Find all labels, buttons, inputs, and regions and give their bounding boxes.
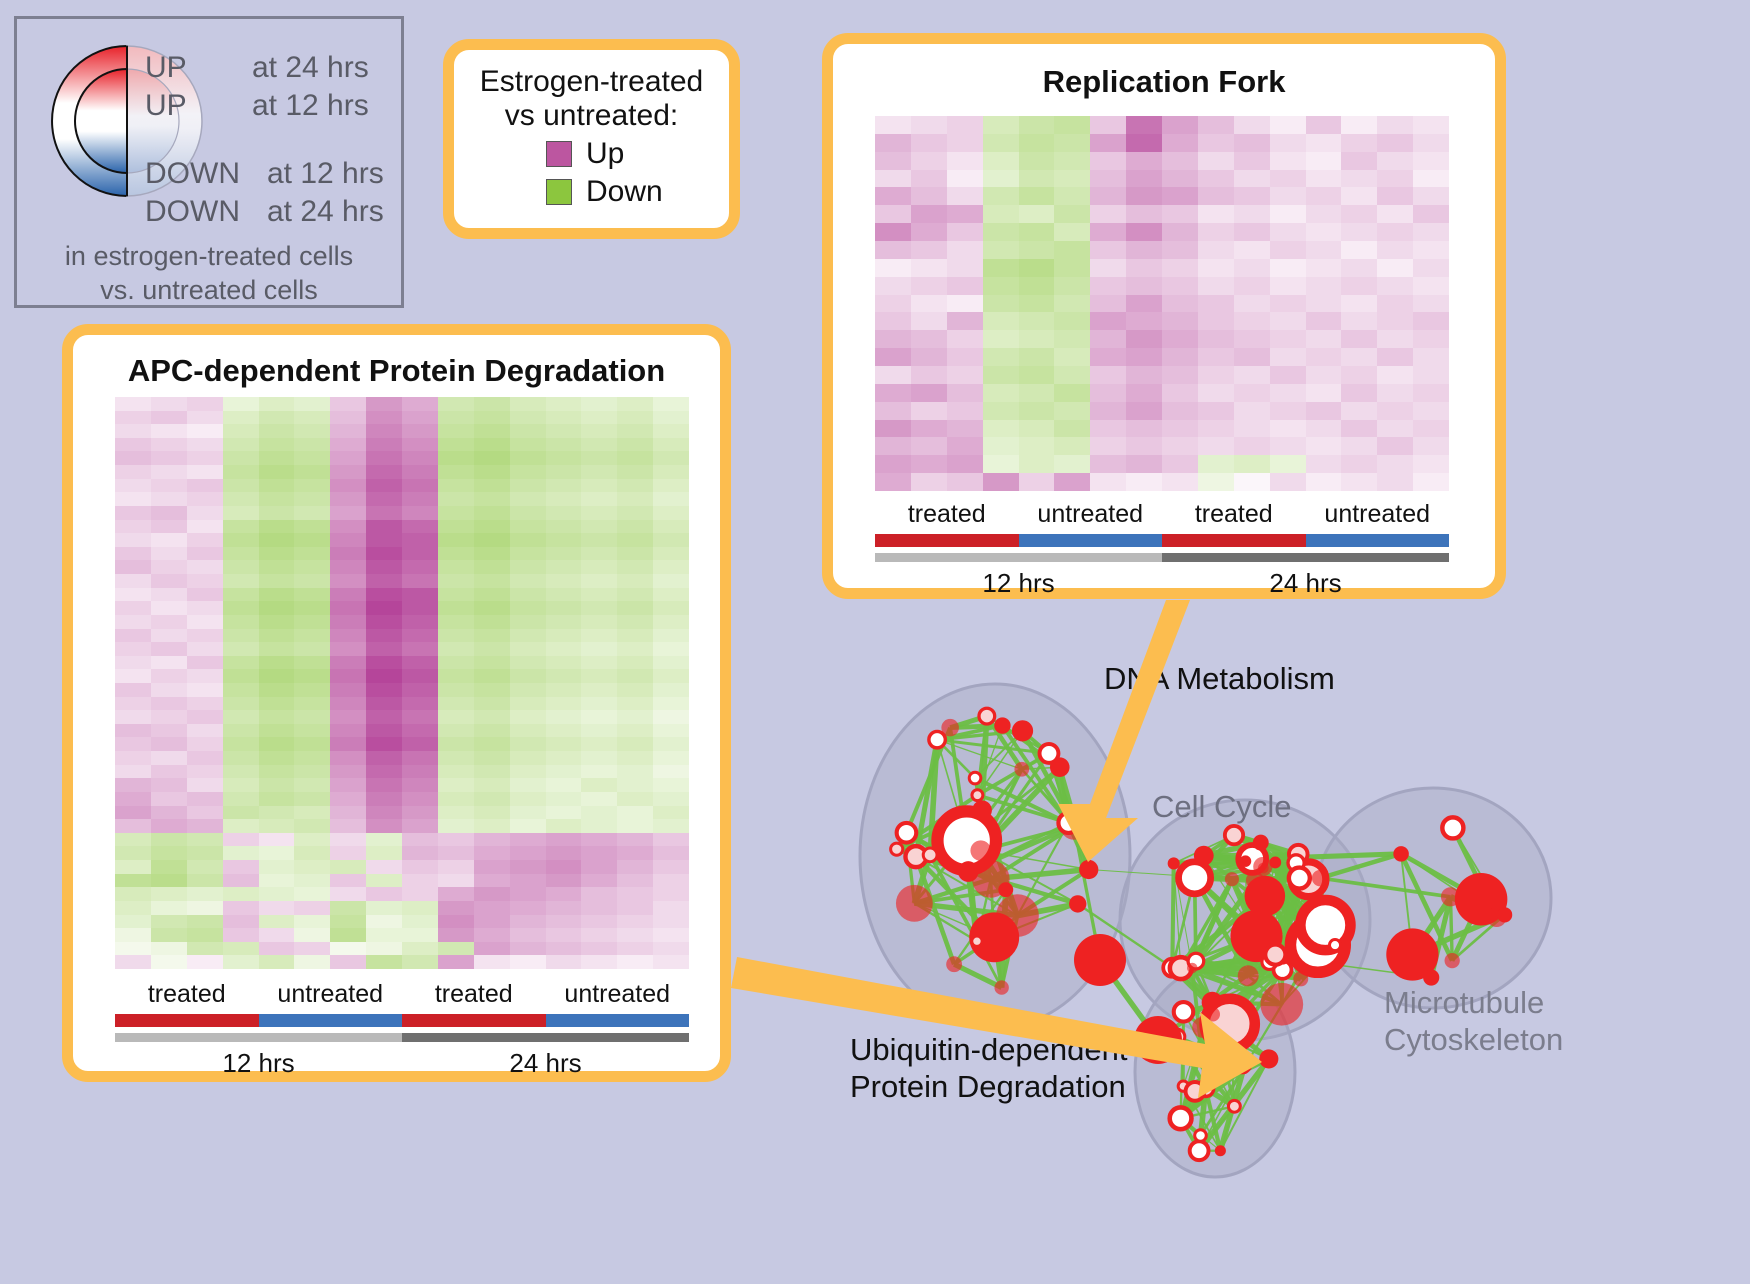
heatmap-cell	[1198, 420, 1234, 438]
heatmap-cell	[223, 492, 259, 506]
heatmap-cell	[151, 574, 187, 588]
heatmap-cell	[151, 697, 187, 711]
heatmap-cell	[438, 629, 474, 643]
heatmap-cell	[115, 724, 151, 738]
heatmap-cell	[259, 819, 295, 833]
heatmap-cell	[546, 506, 582, 520]
heatmap-cell	[366, 438, 402, 452]
heatmap-cell	[510, 901, 546, 915]
heatmap-cell	[223, 819, 259, 833]
heatmap-cell	[546, 438, 582, 452]
heatmap-cell	[366, 574, 402, 588]
heatmap-cell	[1377, 295, 1413, 313]
heatmap-cell	[223, 669, 259, 683]
heatmap-cell	[1090, 312, 1126, 330]
heatmap-cell	[1019, 312, 1055, 330]
heatmap-cell	[653, 669, 689, 683]
heatmap-cell	[151, 506, 187, 520]
heatmap-cell	[653, 479, 689, 493]
heatmap-cell	[330, 915, 366, 929]
heatmap-cell	[617, 874, 653, 888]
heatmap-cell	[402, 819, 438, 833]
heatmap-cell	[1054, 366, 1090, 384]
heatmap-cell	[115, 710, 151, 724]
heatmap-cell	[438, 778, 474, 792]
heatmap-cell	[617, 642, 653, 656]
heatmap-cell	[911, 330, 947, 348]
network-node	[1186, 1082, 1205, 1101]
heatmap-cell	[438, 397, 474, 411]
heatmap-cell	[474, 465, 510, 479]
heatmap-cell	[259, 915, 295, 929]
heatmap-cell	[259, 438, 295, 452]
heatmap-cell	[402, 520, 438, 534]
heatmap-cell	[1019, 366, 1055, 384]
heatmap-cell	[617, 451, 653, 465]
heatmap-cell	[187, 560, 223, 574]
heatmap-cell	[1306, 259, 1342, 277]
heatmap-cell	[510, 601, 546, 615]
heatmap-cell	[294, 724, 330, 738]
heatmap-cell	[1377, 420, 1413, 438]
network-node	[1289, 868, 1310, 889]
heatmap-cell	[438, 451, 474, 465]
heatmap-cell	[366, 710, 402, 724]
heatmap-cell	[259, 710, 295, 724]
heatmap-cell	[617, 955, 653, 969]
heatmap-cell	[510, 492, 546, 506]
heatmap-cell	[1270, 152, 1306, 170]
heatmap-cell	[617, 424, 653, 438]
network-node	[1187, 963, 1198, 974]
column-label-treated-12h: treated	[875, 500, 1019, 529]
heatmap-cell	[911, 152, 947, 170]
colorwheel-row-0-time: at 24 hrs	[252, 51, 369, 85]
heatmap-cell	[474, 520, 510, 534]
heatmap-cell	[1126, 295, 1162, 313]
heatmap-cell	[366, 424, 402, 438]
heatmap-cell	[151, 451, 187, 465]
replication-fork-heatmap	[875, 116, 1449, 491]
heatmap-cell	[911, 455, 947, 473]
heatmap-cell	[911, 241, 947, 259]
heatmap-cell	[187, 765, 223, 779]
heatmap-cell	[294, 887, 330, 901]
heatmap-cell	[366, 874, 402, 888]
heatmap-cell	[438, 915, 474, 929]
heatmap-cell	[366, 451, 402, 465]
heatmap-cell	[1019, 473, 1055, 491]
heatmap-cell	[187, 833, 223, 847]
heatmap-cell	[617, 547, 653, 561]
apc-column-label-treated-24h: treated	[402, 980, 546, 1009]
heatmap-cell	[151, 479, 187, 493]
heatmap-cell	[510, 737, 546, 751]
heatmap-cell	[402, 860, 438, 874]
heatmap-cell	[474, 942, 510, 956]
heatmap-cell	[223, 533, 259, 547]
heatmap-cell	[1270, 116, 1306, 134]
heatmap-cell	[259, 669, 295, 683]
heatmap-cell	[617, 533, 653, 547]
heatmap-cell	[438, 492, 474, 506]
heatmap-cell	[1019, 259, 1055, 277]
colorwheel-legend-box: UP at 24 hrs UP at 12 hrs DOWN at 12 hrs…	[14, 16, 404, 308]
heatmap-cell	[875, 241, 911, 259]
heatmap-cell	[187, 492, 223, 506]
apc-treatment-segment-untreated-24h	[546, 1014, 690, 1027]
heatmap-cell	[581, 887, 617, 901]
colorwheel-row-1-direction: UP	[145, 89, 187, 123]
heatmap-cell	[366, 601, 402, 615]
heatmap-cell	[1090, 455, 1126, 473]
heatmap-cell	[366, 533, 402, 547]
apc-time-bar	[115, 1033, 689, 1042]
heatmap-cell	[294, 860, 330, 874]
apc-column-labels: treated untreated treated untreated	[115, 980, 689, 1009]
heatmap-cell	[366, 397, 402, 411]
column-label-untreated-12h: untreated	[1019, 500, 1163, 529]
heatmap-cell	[510, 533, 546, 547]
heatmap-cell	[510, 710, 546, 724]
heatmap-cell	[187, 792, 223, 806]
heatmap-cell	[151, 806, 187, 820]
heatmap-cell	[1341, 295, 1377, 313]
heatmap-cell	[875, 348, 911, 366]
heatmap-cell	[546, 874, 582, 888]
heatmap-cell	[1234, 348, 1270, 366]
heatmap-cell	[983, 455, 1019, 473]
heatmap-cell	[402, 424, 438, 438]
heatmap-cell	[947, 170, 983, 188]
heatmap-cell	[581, 629, 617, 643]
heatmap-cell	[1341, 241, 1377, 259]
heatmap-cell	[187, 751, 223, 765]
heatmap-cell	[510, 465, 546, 479]
heatmap-cell	[1341, 170, 1377, 188]
heatmap-cell	[875, 437, 911, 455]
heatmap-cell	[617, 574, 653, 588]
heatmap-cell	[330, 942, 366, 956]
heatmap-cell	[581, 479, 617, 493]
heatmap-cell	[617, 520, 653, 534]
heatmap-cell	[1413, 312, 1449, 330]
heatmap-cell	[330, 656, 366, 670]
heatmap-cell	[223, 737, 259, 751]
heatmap-cell	[911, 116, 947, 134]
heatmap-cell	[1198, 312, 1234, 330]
heatmap-cell	[1054, 384, 1090, 402]
heatmap-cell	[1270, 187, 1306, 205]
treatment-segment-treated-12h	[875, 534, 1019, 547]
heatmap-cell	[1234, 402, 1270, 420]
heatmap-cell	[474, 615, 510, 629]
legend-item-down: Down	[546, 175, 729, 209]
heatmap-cell	[259, 955, 295, 969]
heatmap-cell	[653, 846, 689, 860]
heatmap-cell	[223, 547, 259, 561]
heatmap-cell	[1270, 205, 1306, 223]
network-node	[1134, 1016, 1182, 1064]
heatmap-cell	[330, 506, 366, 520]
heatmap-cell	[1377, 134, 1413, 152]
heatmap-cell	[223, 724, 259, 738]
heatmap-cell	[115, 846, 151, 860]
heatmap-cell	[510, 915, 546, 929]
heatmap-cell	[983, 241, 1019, 259]
heatmap-cell	[1270, 384, 1306, 402]
heatmap-cell	[259, 397, 295, 411]
heatmap-cell	[438, 560, 474, 574]
heatmap-cell	[510, 424, 546, 438]
heatmap-cell	[438, 424, 474, 438]
heatmap-cell	[294, 424, 330, 438]
heatmap-cell	[223, 520, 259, 534]
heatmap-cell	[1126, 437, 1162, 455]
replication-fork-column-labels: treated untreated treated untreated	[875, 500, 1449, 529]
heatmap-cell	[653, 520, 689, 534]
heatmap-cell	[911, 134, 947, 152]
heatmap-cell	[223, 615, 259, 629]
heatmap-cell	[151, 533, 187, 547]
heatmap-cell	[187, 683, 223, 697]
network-node	[1445, 953, 1460, 968]
heatmap-cell	[438, 683, 474, 697]
heatmap-cell	[438, 479, 474, 493]
heatmap-cell	[187, 915, 223, 929]
heatmap-cell	[474, 928, 510, 942]
heatmap-cell	[911, 384, 947, 402]
heatmap-cell	[259, 520, 295, 534]
heatmap-cell	[115, 492, 151, 506]
heatmap-cell	[947, 330, 983, 348]
heatmap-cell	[510, 547, 546, 561]
heatmap-cell	[1162, 473, 1198, 491]
heatmap-cell	[1126, 348, 1162, 366]
heatmap-cell	[402, 737, 438, 751]
heatmap-cell	[546, 683, 582, 697]
heatmap-cell	[366, 520, 402, 534]
heatmap-cell	[438, 887, 474, 901]
heatmap-cell	[366, 669, 402, 683]
heatmap-cell	[581, 574, 617, 588]
heatmap-cell	[223, 901, 259, 915]
heatmap-cell	[1198, 152, 1234, 170]
heatmap-cell	[294, 451, 330, 465]
heatmap-cell	[546, 411, 582, 425]
heatmap-cell	[438, 574, 474, 588]
heatmap-cell	[366, 492, 402, 506]
heatmap-cell	[294, 819, 330, 833]
heatmap-cell	[1090, 205, 1126, 223]
heatmap-cell	[151, 397, 187, 411]
heatmap-cell	[1198, 384, 1234, 402]
heatmap-cell	[259, 846, 295, 860]
heatmap-cell	[1270, 437, 1306, 455]
heatmap-cell	[510, 806, 546, 820]
heatmap-cell	[151, 465, 187, 479]
heatmap-cell	[223, 560, 259, 574]
heatmap-cell	[1126, 455, 1162, 473]
heatmap-cell	[581, 424, 617, 438]
heatmap-cell	[402, 642, 438, 656]
heatmap-cell	[438, 601, 474, 615]
heatmap-cell	[1126, 241, 1162, 259]
heatmap-cell	[330, 710, 366, 724]
heatmap-cell	[947, 455, 983, 473]
figure-canvas: UP at 24 hrs UP at 12 hrs DOWN at 12 hrs…	[0, 0, 1750, 1279]
heatmap-cell	[151, 615, 187, 629]
heatmap-cell	[1270, 455, 1306, 473]
column-label-treated-24h: treated	[1162, 500, 1306, 529]
heatmap-cell	[546, 724, 582, 738]
heatmap-cell	[1306, 134, 1342, 152]
heatmap-cell	[402, 438, 438, 452]
heatmap-cell	[330, 751, 366, 765]
heatmap-cell	[115, 451, 151, 465]
heatmap-cell	[1019, 402, 1055, 420]
heatmap-cell	[294, 438, 330, 452]
heatmap-cell	[546, 520, 582, 534]
heatmap-cell	[581, 506, 617, 520]
heatmap-cell	[653, 588, 689, 602]
heatmap-cell	[151, 833, 187, 847]
network-node	[897, 823, 917, 843]
heatmap-cell	[546, 669, 582, 683]
heatmap-cell	[474, 819, 510, 833]
heatmap-cell	[330, 479, 366, 493]
heatmap-cell	[187, 710, 223, 724]
heatmap-cell	[438, 833, 474, 847]
heatmap-cell	[402, 887, 438, 901]
heatmap-cell	[1019, 116, 1055, 134]
heatmap-cell	[151, 874, 187, 888]
heatmap-cell	[223, 942, 259, 956]
heatmap-cell	[402, 683, 438, 697]
heatmap-cell	[1198, 134, 1234, 152]
heatmap-cell	[1341, 134, 1377, 152]
heatmap-cell	[1054, 277, 1090, 295]
heatmap-cell	[259, 792, 295, 806]
heatmap-cell	[653, 833, 689, 847]
network-node	[1259, 1049, 1278, 1068]
heatmap-cell	[581, 560, 617, 574]
heatmap-cell	[187, 724, 223, 738]
heatmap-cell	[438, 615, 474, 629]
network-node	[1074, 934, 1126, 986]
heatmap-cell	[294, 901, 330, 915]
heatmap-cell	[115, 588, 151, 602]
heatmap-cell	[1341, 223, 1377, 241]
heatmap-cell	[330, 547, 366, 561]
heatmap-cell	[223, 656, 259, 670]
heatmap-cell	[1234, 473, 1270, 491]
heatmap-cell	[983, 134, 1019, 152]
heatmap-cell	[1413, 187, 1449, 205]
heatmap-cell	[1413, 384, 1449, 402]
heatmap-cell	[1341, 116, 1377, 134]
heatmap-cell	[474, 765, 510, 779]
heatmap-cell	[151, 901, 187, 915]
heatmap-cell	[1090, 134, 1126, 152]
heatmap-cell	[653, 642, 689, 656]
heatmap-cell	[438, 846, 474, 860]
heatmap-cell	[1090, 330, 1126, 348]
heatmap-cell	[1377, 205, 1413, 223]
colorwheel-row-2-direction: DOWN	[145, 157, 240, 191]
heatmap-cell	[294, 560, 330, 574]
heatmap-cell	[366, 955, 402, 969]
heatmap-cell	[115, 397, 151, 411]
heatmap-cell	[474, 846, 510, 860]
heatmap-cell	[294, 656, 330, 670]
heatmap-cell	[983, 366, 1019, 384]
heatmap-cell	[402, 601, 438, 615]
heatmap-cell	[366, 901, 402, 915]
heatmap-cell	[474, 574, 510, 588]
heatmap-cell	[1019, 455, 1055, 473]
heatmap-cell	[294, 683, 330, 697]
heatmap-cell	[294, 642, 330, 656]
heatmap-cell	[151, 955, 187, 969]
heatmap-cell	[1090, 384, 1126, 402]
heatmap-cell	[1198, 170, 1234, 188]
heatmap-cell	[1054, 241, 1090, 259]
heatmap-cell	[1341, 384, 1377, 402]
heatmap-cell	[223, 424, 259, 438]
heatmap-cell	[1054, 295, 1090, 313]
heatmap-cell	[1413, 402, 1449, 420]
heatmap-cell	[653, 560, 689, 574]
network-node	[1225, 872, 1239, 886]
heatmap-cell	[294, 506, 330, 520]
heatmap-cell	[875, 116, 911, 134]
heatmap-cell	[1306, 348, 1342, 366]
heatmap-cell	[1413, 152, 1449, 170]
heatmap-cell	[875, 205, 911, 223]
heatmap-cell	[653, 656, 689, 670]
heatmap-cell	[1413, 330, 1449, 348]
heatmap-cell	[510, 792, 546, 806]
heatmap-cell	[187, 887, 223, 901]
colorwheel-row-1-time: at 12 hrs	[252, 89, 369, 123]
heatmap-cell	[438, 792, 474, 806]
heatmap-cell	[151, 792, 187, 806]
heatmap-cell	[1126, 152, 1162, 170]
heatmap-cell	[330, 860, 366, 874]
heatmap-cell	[581, 656, 617, 670]
heatmap-cell	[151, 642, 187, 656]
heatmap-cell	[1198, 330, 1234, 348]
heatmap-cell	[366, 806, 402, 820]
heatmap-cell	[294, 520, 330, 534]
heatmap-cell	[330, 560, 366, 574]
heatmap-cell	[187, 615, 223, 629]
heatmap-cell	[151, 942, 187, 956]
heatmap-cell	[947, 473, 983, 491]
heatmap-cell	[1090, 348, 1126, 366]
heatmap-cell	[911, 295, 947, 313]
heatmap-cell	[581, 411, 617, 425]
treatment-segment-untreated-12h	[1019, 534, 1163, 547]
updown-legend-card: Estrogen-treated vs untreated: Up Down	[443, 39, 740, 239]
heatmap-cell	[617, 928, 653, 942]
heatmap-cell	[1126, 384, 1162, 402]
heatmap-cell	[1234, 205, 1270, 223]
heatmap-cell	[330, 955, 366, 969]
heatmap-cell	[1198, 259, 1234, 277]
heatmap-cell	[1234, 295, 1270, 313]
